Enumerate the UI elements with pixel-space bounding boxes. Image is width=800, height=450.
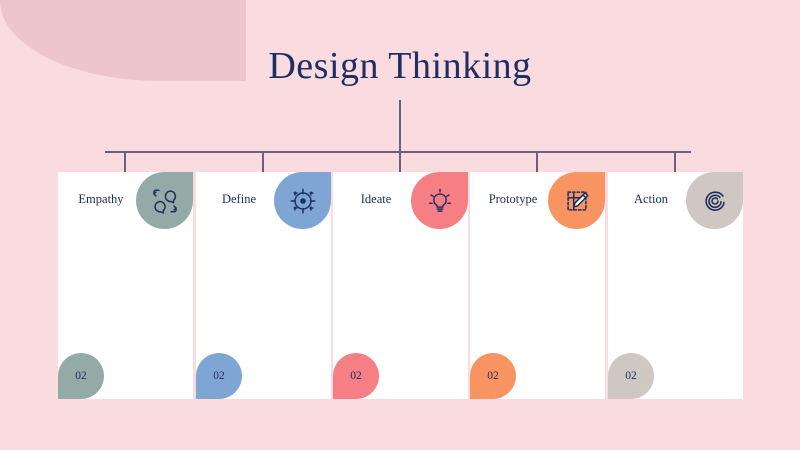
connector-stem bbox=[399, 100, 401, 153]
wireframe-pencil-icon bbox=[562, 186, 592, 216]
step-card-prototype[interactable]: Prototype 02 bbox=[470, 172, 605, 399]
step-card-empathy[interactable]: Empathy 02 bbox=[58, 172, 193, 399]
step-icon-badge bbox=[136, 172, 193, 229]
connector-drop-2 bbox=[262, 151, 264, 173]
page-title: Design Thinking bbox=[0, 44, 800, 88]
step-icon-badge bbox=[548, 172, 605, 229]
step-number-badge: 02 bbox=[58, 353, 104, 399]
step-card-label: Action bbox=[608, 192, 694, 206]
step-number-badge: 02 bbox=[196, 353, 242, 399]
step-card-label: Define bbox=[196, 192, 282, 206]
step-icon-badge bbox=[686, 172, 743, 229]
step-card-label: Empathy bbox=[58, 192, 144, 206]
empathy-heads-icon bbox=[150, 186, 180, 216]
step-number-badge: 02 bbox=[470, 353, 516, 399]
connector-drop-3 bbox=[399, 151, 401, 173]
step-card-ideate[interactable]: Ideate 02 bbox=[333, 172, 468, 399]
step-card-action[interactable]: Action 02 bbox=[608, 172, 743, 399]
target-crosshair-icon bbox=[288, 186, 318, 216]
spiral-maze-icon bbox=[700, 186, 730, 216]
step-card-label: Ideate bbox=[333, 192, 419, 206]
step-number-badge: 02 bbox=[608, 353, 654, 399]
slide-canvas: Design Thinking Empathy 02 bbox=[0, 0, 800, 450]
connector-drop-1 bbox=[124, 151, 126, 173]
step-icon-badge bbox=[411, 172, 468, 229]
connector-drop-5 bbox=[674, 151, 676, 173]
step-icon-badge bbox=[274, 172, 331, 229]
connector-horizontal-bar bbox=[105, 151, 691, 153]
step-number-badge: 02 bbox=[333, 353, 379, 399]
step-card-row: Empathy 02 Define bbox=[0, 172, 800, 400]
connector-drop-4 bbox=[536, 151, 538, 173]
lightbulb-icon bbox=[425, 186, 455, 216]
step-card-label: Prototype bbox=[470, 192, 556, 206]
step-card-define[interactable]: Define 02 bbox=[196, 172, 331, 399]
